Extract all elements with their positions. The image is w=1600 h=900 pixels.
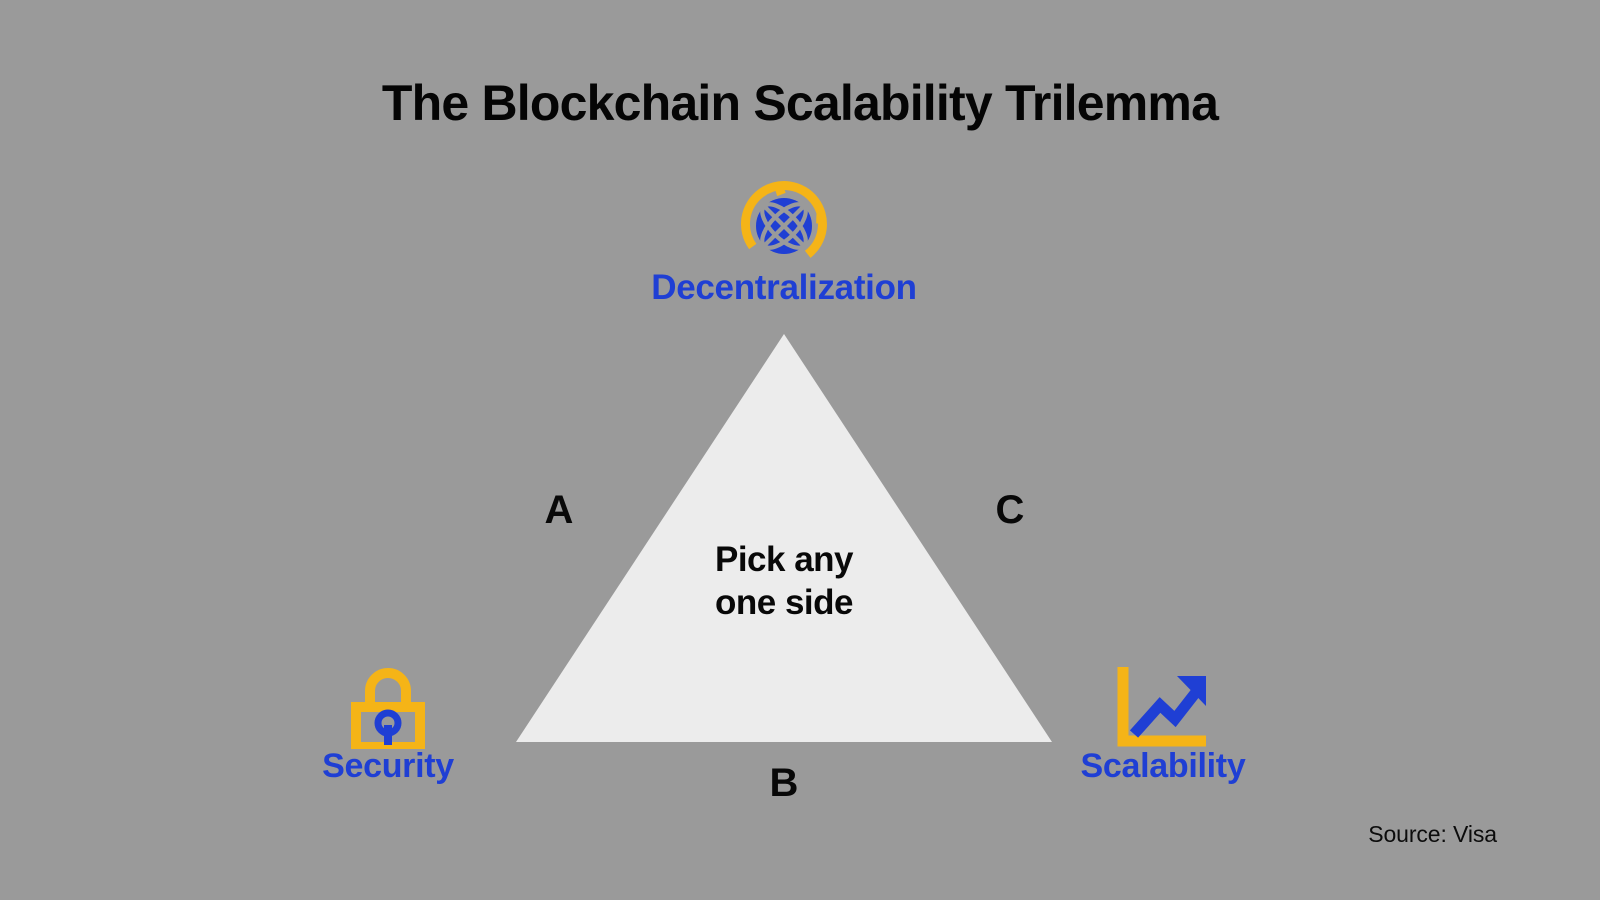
vertex-label-security: Security — [322, 747, 454, 785]
center-text-line-2: one side — [516, 581, 1052, 624]
side-label-b: B — [754, 763, 814, 803]
vertex-security: Security — [238, 665, 538, 783]
center-text-line-1: Pick any — [516, 538, 1052, 581]
padlock-icon — [348, 665, 428, 749]
diagram-canvas: The Blockchain Scalability Trilemma — [0, 0, 1600, 900]
vertex-label-scalability: Scalability — [1081, 747, 1246, 785]
vertex-scalability: Scalability — [1013, 665, 1313, 783]
triangle-center-text: Pick any one side — [516, 538, 1052, 625]
side-label-c: C — [980, 490, 1040, 530]
source-attribution: Source: Visa — [1368, 821, 1497, 848]
growth-chart-arrow-icon — [1114, 665, 1212, 749]
vertex-decentralization: Decentralization — [584, 178, 984, 305]
vertex-label-decentralization: Decentralization — [651, 268, 917, 307]
globe-network-icon — [738, 178, 830, 270]
side-label-a: A — [529, 490, 589, 530]
page-title: The Blockchain Scalability Trilemma — [0, 76, 1600, 131]
